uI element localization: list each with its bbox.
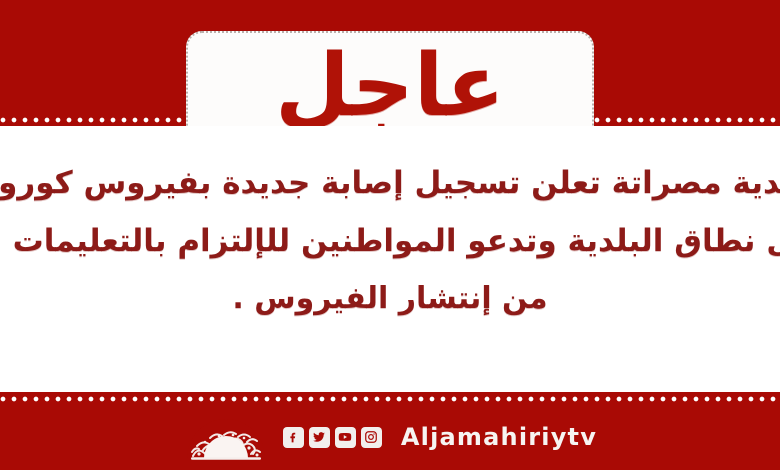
footer-content: Aljamahiriytv	[0, 404, 780, 470]
news-body-line-3: من إنتشار الفيروس .	[232, 284, 547, 314]
twitter-icon[interactable]	[309, 427, 330, 448]
news-body: بلدية مصراتة تعلن تسجيل إصابة جديدة بفير…	[0, 126, 780, 392]
footer-band: Aljamahiriytv	[0, 392, 780, 470]
aljamahiriya-dome-logo	[183, 414, 269, 460]
social-links	[283, 427, 382, 448]
instagram-icon[interactable]	[361, 427, 382, 448]
brand-name: Aljamahiriytv	[401, 423, 597, 451]
news-body-line-2: داخل نطاق البلدية وتدعو المواطنين للإلتز…	[0, 226, 780, 257]
youtube-icon[interactable]	[335, 427, 356, 448]
news-body-line-1: بلدية مصراتة تعلن تسجيل إصابة جديدة بفير…	[0, 168, 780, 199]
breaking-news-card: عاجل بلدية مصراتة تعلن تسجيل إصابة جديدة…	[0, 0, 780, 470]
footer-dotted-divider	[0, 396, 780, 402]
facebook-icon[interactable]	[283, 427, 304, 448]
urgent-badge-label: عاجل	[275, 43, 505, 129]
